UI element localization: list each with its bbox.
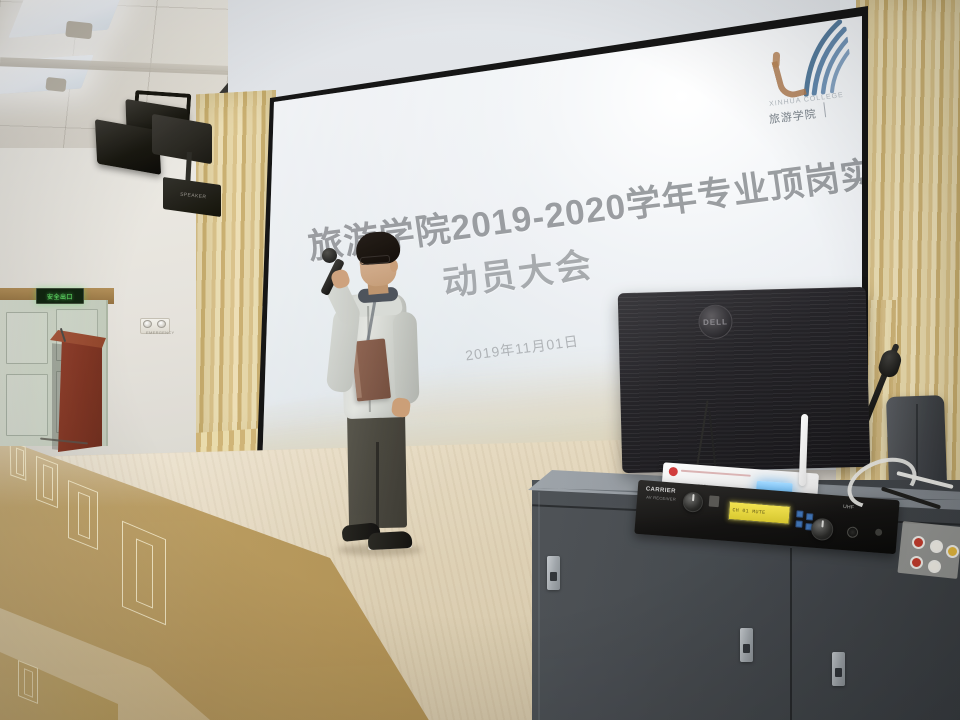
presenter-shoe-right (368, 531, 413, 550)
stage-trim-diamond-inner (136, 538, 153, 608)
ceiling-fixture (65, 21, 93, 40)
receiver-model-label: AV RECEIVER (646, 494, 676, 501)
institution-logo: XINHUA COLLEGE 旅游学院 (754, 14, 862, 138)
exit-sign: 安全出口 (36, 288, 84, 304)
rca-jack-red[interactable] (910, 556, 923, 569)
dell-monitor-rear[interactable]: DELL (618, 287, 871, 473)
presenter-arm-left (392, 312, 419, 405)
receiver-brand-label: CARRIER (646, 486, 677, 494)
receiver-antenna-jack[interactable] (847, 526, 859, 538)
emergency-light-label: EMERGENCY (146, 330, 174, 335)
ceiling-fixture (45, 77, 66, 92)
av-cabinet-seam (538, 492, 540, 720)
receiver-lcd-display: CH 01 MUTE (728, 501, 791, 525)
receiver-indicator-block (709, 495, 720, 507)
exit-sign-label: 安全出口 (47, 292, 73, 301)
receiver-lcd-text: CH 01 MUTE (732, 507, 765, 516)
receiver-button[interactable] (795, 520, 803, 528)
presenter (312, 232, 422, 558)
door-panel (6, 312, 48, 364)
presenter-leg-seam (376, 442, 379, 532)
av-cabinet-seam (790, 548, 792, 720)
stage-trim-diamond-inner (16, 448, 24, 477)
receiver-right-label: UHF (843, 504, 855, 511)
receiver-screw (875, 529, 883, 537)
cabinet-handle-slot (550, 572, 557, 581)
slide-date: 2019年11月01日 (464, 331, 580, 366)
stage-trim-diamond-inner (43, 464, 53, 501)
auditorium-photo: SPEAKER 旅游学院2019-2020学年专业顶岗实习 动员大会 2019年… (0, 0, 960, 720)
rca-jack-white[interactable] (928, 560, 941, 573)
emergency-lamp (157, 320, 166, 328)
monitor-vent-lines (618, 287, 871, 473)
receiver-button[interactable] (796, 510, 804, 518)
stage-trim-diamond-inner (78, 492, 90, 540)
receiver-button[interactable] (806, 513, 814, 521)
cabinet-handle-slot (835, 668, 842, 677)
door-panel (6, 374, 48, 436)
handheld-microphone-head (322, 248, 337, 263)
dell-logo-text: DELL (703, 317, 728, 327)
router-brand-stripe (681, 470, 751, 477)
rca-jack-red[interactable] (912, 536, 925, 549)
rca-jack-white[interactable] (930, 540, 943, 553)
cabinet-handle-slot (743, 644, 750, 653)
router-brand-icon (668, 467, 678, 477)
stage-step-trim-diamond-inner (24, 668, 33, 698)
rca-jack-yellow[interactable] (946, 545, 959, 558)
logo-hook-tip (772, 52, 780, 68)
presenter-hand-left (391, 397, 411, 418)
emergency-lamp (143, 320, 152, 328)
podium (56, 336, 102, 452)
